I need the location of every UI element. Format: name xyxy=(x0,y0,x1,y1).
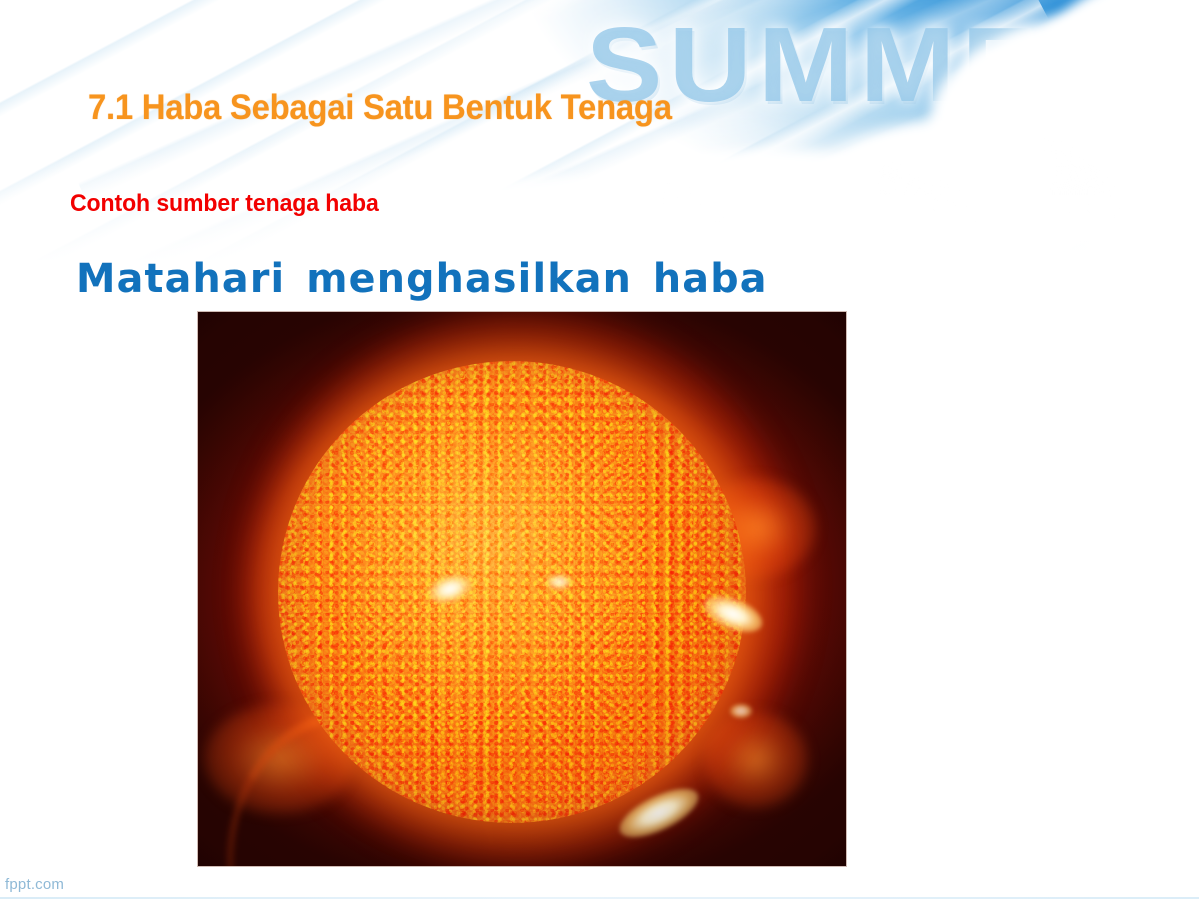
bottom-divider xyxy=(0,897,1199,899)
cloud-shape xyxy=(1040,0,1199,170)
page-title: 7.1 Haba Sebagai Satu Bentuk Tenaga xyxy=(88,88,672,128)
cloud-shape xyxy=(930,10,1199,240)
sky-gradient xyxy=(0,0,1199,260)
subtitle-label: Contoh sumber tenaga haba xyxy=(70,190,379,218)
cloud-shape xyxy=(790,120,1120,260)
headline-text: Matahari menghasilkan haba xyxy=(76,256,768,302)
sun-photo-vignette xyxy=(198,312,846,866)
presentation-slide: SUMMER 7.1 Haba Sebagai Satu Bentuk Tena… xyxy=(0,0,1199,900)
sky-header-background: SUMMER xyxy=(0,0,1199,260)
sun-photograph xyxy=(198,312,846,866)
cloud-shape xyxy=(340,178,760,260)
cloud-shape xyxy=(1080,120,1199,260)
fppt-watermark: fppt.com xyxy=(5,876,64,893)
diagonal-light-streaks-secondary xyxy=(62,0,1199,260)
cloud-shape xyxy=(560,150,980,260)
diagonal-light-streaks xyxy=(0,0,1107,260)
